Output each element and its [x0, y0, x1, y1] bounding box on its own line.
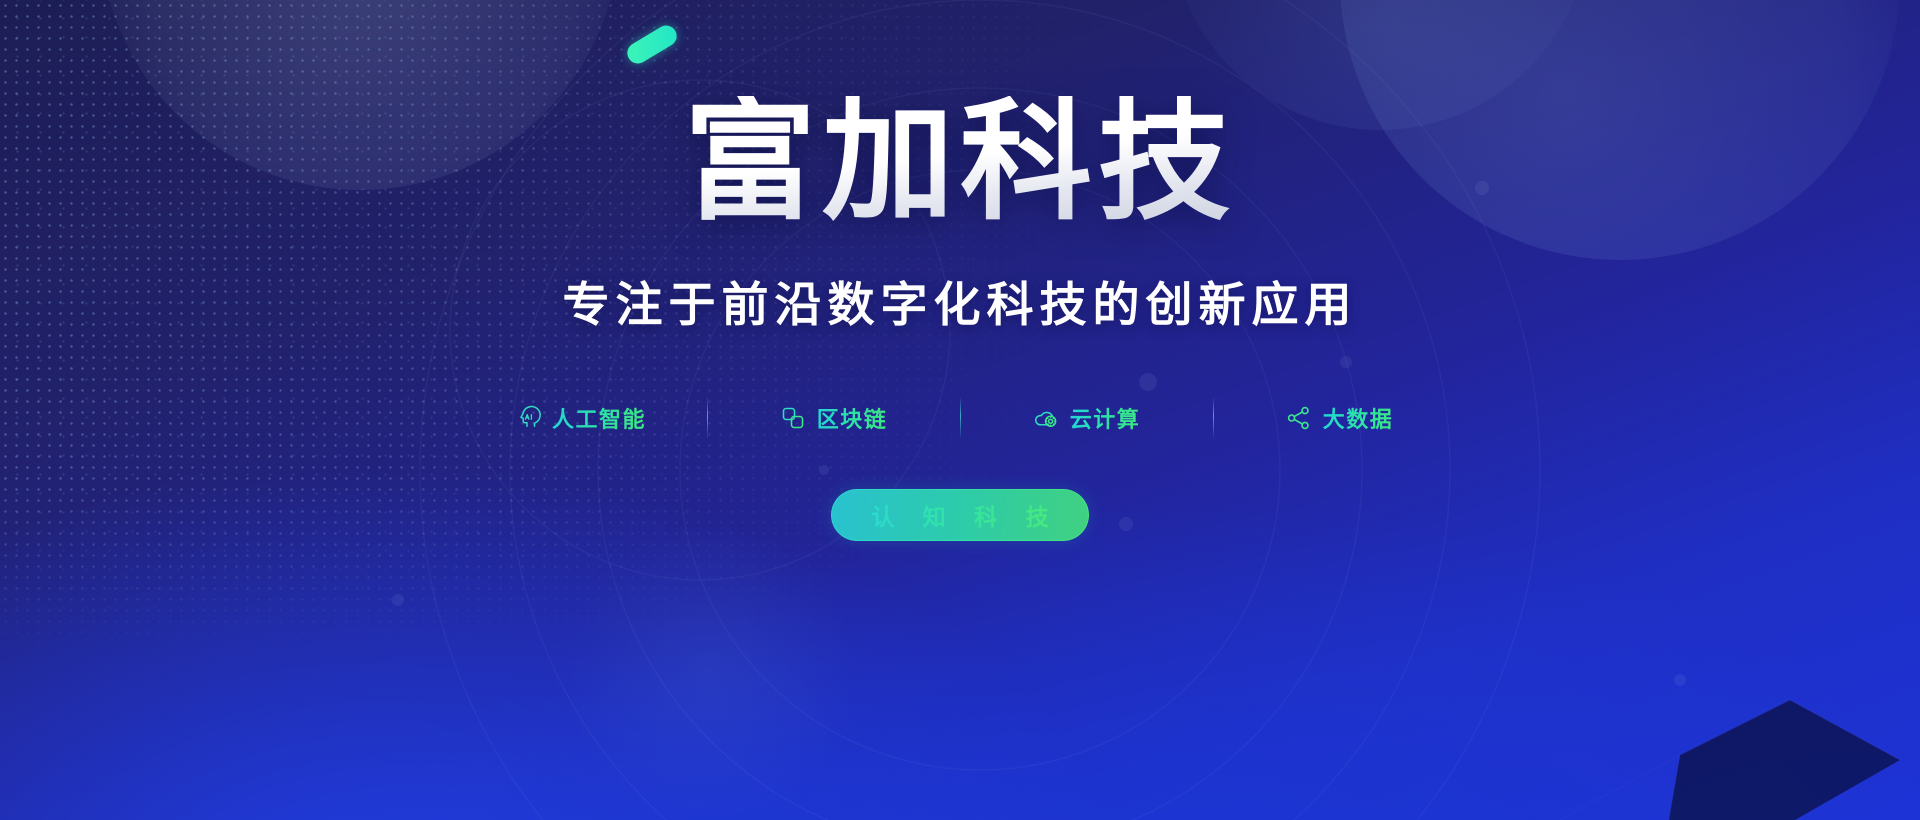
- cta-container: 认 知 科 技: [831, 489, 1089, 541]
- cognitive-tech-button[interactable]: 认 知 科 技: [831, 489, 1089, 541]
- hero-content: 富加科技 专注于前沿数字化科技的创新应用 人工智能 区块链: [0, 0, 1920, 820]
- feature-label-ai: 人工智能: [552, 402, 646, 434]
- feature-list: 人工智能 区块链: [455, 397, 1466, 439]
- brand-accent-stroke: [623, 22, 680, 68]
- hero-banner: 富加科技 专注于前沿数字化科技的创新应用 人工智能 区块链: [0, 0, 1920, 820]
- cloud-gear-icon: [1033, 405, 1059, 431]
- feature-label-cloud: 云计算: [1070, 402, 1141, 434]
- brand-subtitle: 专注于前沿数字化科技的创新应用: [563, 266, 1358, 335]
- feature-item-bigdata[interactable]: 大数据: [1214, 402, 1466, 434]
- brand-title: 富加科技: [684, 96, 1236, 228]
- blockchain-blocks-icon: [780, 405, 806, 431]
- feature-item-blockchain[interactable]: 区块链: [708, 402, 960, 434]
- feature-label-blockchain: 区块链: [817, 402, 888, 434]
- share-nodes-icon: [1286, 405, 1312, 431]
- feature-item-cloud[interactable]: 云计算: [961, 402, 1213, 434]
- cognitive-tech-button-label: 认 知 科 技: [860, 498, 1059, 532]
- ai-head-icon: [515, 405, 541, 431]
- feature-item-ai[interactable]: 人工智能: [455, 402, 707, 434]
- feature-label-bigdata: 大数据: [1323, 402, 1394, 434]
